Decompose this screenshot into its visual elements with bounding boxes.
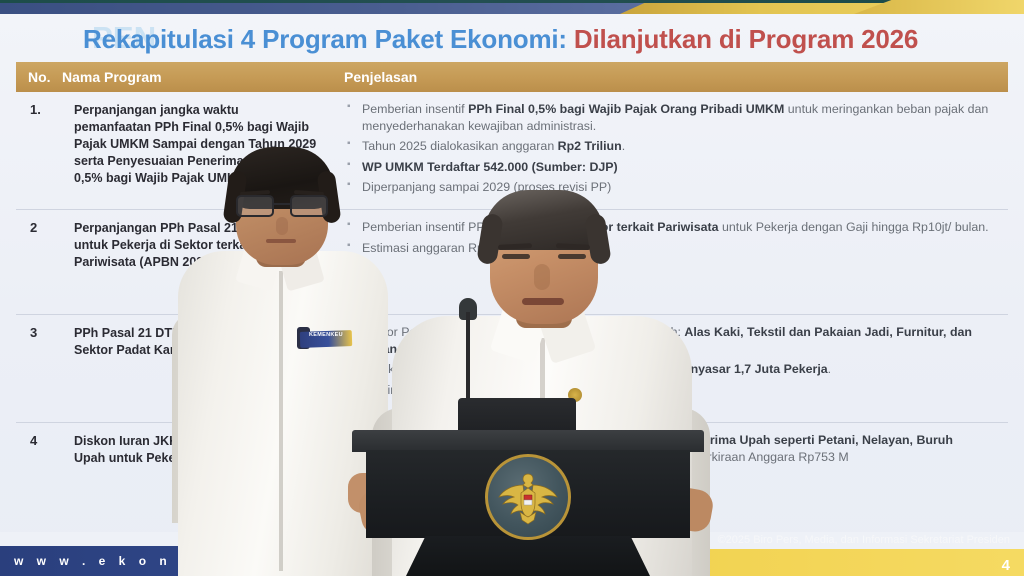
presentation-slide: PEN Rekapitulasi 4 Program Paket Ekonomi…	[0, 0, 1024, 576]
bullet-text: Tahun 2025 dialokasikan anggaran	[362, 139, 558, 153]
row-program: Perpanjangan jangka waktu pemanfaatan PP…	[62, 92, 332, 209]
bullet-text: Pemberian insentif PPh Pasal 21 DTP	[362, 220, 575, 234]
bullet-text: Diperpanjang sampai 2029 (proses revisi …	[362, 180, 611, 194]
slide-title-bar: PEN Rekapitulasi 4 Program Paket Ekonomi…	[0, 18, 1024, 60]
bullet-item: WP UMKM Terdaftar 542.000 (Sumber: DJP)	[346, 159, 998, 176]
bullet-text: untuk Pekerja dengan Gaji hingga Rp10jt/…	[719, 220, 989, 234]
bullet-text: .	[547, 383, 550, 397]
row-explanation: Sektor Padat Karya yang mendapatkan inse…	[332, 315, 1008, 422]
bullet-text: .	[828, 362, 831, 376]
bullet-text: (mulai Agustus 2025). Perkiraan Anggara …	[566, 450, 849, 464]
bullet-item: Estimasi anggaran Rp480 Miliar (setahun)	[346, 240, 998, 257]
bullet-item: Perkiraan Anggaran Rp600 Miliar.	[346, 382, 998, 399]
bullet-item: Pemberian insentif PPh Pasal 21 DTP Sekt…	[346, 219, 998, 236]
top-blue-strip	[0, 3, 660, 14]
column-header-no: No.	[16, 69, 62, 85]
footer-blue-band: w w w . e k o n . g o	[0, 546, 430, 576]
row-number: 2	[16, 210, 62, 314]
program-table: No. Nama Program Penjelasan 1. Perpanjan…	[16, 62, 1008, 503]
bullet-emphasis: PPh Final 0,5% bagi Wajib Pajak Orang Pr…	[468, 102, 784, 116]
footer-website-url: w w w . e k o n . g o	[0, 554, 230, 568]
bullet-text: Untuk Pekerja dengan Gaji hingga Rp10 Ju…	[362, 362, 673, 376]
row-program: Diskon Iuran JKK dan Bantuan Subsidi Upa…	[62, 423, 332, 503]
bullet-item: Pemberian insentif PPh Final 0,5% bagi W…	[346, 101, 998, 134]
bullet-emphasis: Sektor terkait Pariwisata	[575, 220, 719, 234]
broadcast-frame: PEN Rekapitulasi 4 Program Paket Ekonomi…	[0, 0, 1024, 576]
row-program: Perpanjangan PPh Pasal 21 DTP => untuk P…	[62, 210, 332, 314]
table-row: 3 PPh Pasal 21 DTP untuk Pekerja di Sekt…	[16, 315, 1008, 423]
bullet-text: (setahun)	[540, 241, 596, 255]
row-number: 3	[16, 315, 62, 422]
bullet-emphasis: 600 Miliar	[491, 383, 547, 397]
bullet-text: Perkiraan Anggaran Rp	[362, 383, 491, 397]
bullet-item: Sektor Padat Karya yang mendapatkan inse…	[346, 324, 998, 357]
bullet-list: Pemberian insentif PPh Pasal 21 DTP Sekt…	[346, 219, 998, 256]
table-row: 4 Diskon Iuran JKK dan Bantuan Subsidi U…	[16, 423, 1008, 503]
table-row: 2 Perpanjangan PPh Pasal 21 DTP => untuk…	[16, 210, 1008, 315]
bullet-text: Pemberian insentif	[362, 102, 468, 116]
row-explanation: Dilanjutkan di 2026 dan bisa diperluas k…	[332, 423, 1008, 503]
bullet-emphasis: Rp2 Triliun	[558, 139, 622, 153]
page-title-primary: Rekapitulasi 4 Program Paket Ekonomi:	[83, 24, 567, 54]
bullet-text: Sektor Padat Karya yang mendapatkan inse…	[362, 325, 684, 339]
page-title-accent: Dilanjutkan di Program 2026	[574, 24, 918, 54]
row-explanation: Pemberian insentif PPh Final 0,5% bagi W…	[332, 92, 1008, 209]
bullet-text: Dilanjutkan di 2026 dan bisa diperluas k…	[362, 433, 591, 447]
copyright-notice: ©2025 Biro Pers, Media, dan Informasi Se…	[718, 534, 1010, 546]
bullet-emphasis: WP UMKM Terdaftar 542.000 (Sumber: DJP)	[362, 160, 618, 174]
table-row: 1. Perpanjangan jangka waktu pemanfaatan…	[16, 92, 1008, 210]
bullet-list: Sektor Padat Karya yang mendapatkan inse…	[346, 324, 998, 398]
table-header-row: No. Nama Program Penjelasan	[16, 62, 1008, 92]
row-number: 1.	[16, 92, 62, 209]
column-header-explanation: Penjelasan	[332, 69, 1008, 85]
row-explanation: Pemberian insentif PPh Pasal 21 DTP Sekt…	[332, 210, 1008, 314]
bullet-text: Estimasi anggaran Rp	[362, 241, 484, 255]
bullet-list: Dilanjutkan di 2026 dan bisa diperluas k…	[346, 432, 998, 465]
bullet-emphasis: 480 Miliar	[484, 241, 540, 255]
bullet-text: .	[462, 342, 465, 356]
page-title: Rekapitulasi 4 Program Paket Ekonomi: Di…	[83, 24, 918, 55]
bullet-item: Untuk Pekerja dengan Gaji hingga Rp10 Ju…	[346, 361, 998, 378]
bullet-text: .	[622, 139, 625, 153]
bullet-item: Diperpanjang sampai 2029 (proses revisi …	[346, 179, 998, 196]
row-program: PPh Pasal 21 DTP untuk Pekerja di Sektor…	[62, 315, 332, 422]
bullet-item: Tahun 2025 dialokasikan anggaran Rp2 Tri…	[346, 138, 998, 155]
column-header-program: Nama Program	[62, 69, 332, 85]
bullet-item: Dilanjutkan di 2026 dan bisa diperluas k…	[346, 432, 998, 465]
slide-page-number: 4	[1002, 557, 1010, 574]
bullet-emphasis: menyasar 1,7 Juta Pekerja	[673, 362, 828, 376]
row-number: 4	[16, 423, 62, 503]
bullet-list: Pemberian insentif PPh Final 0,5% bagi W…	[346, 101, 998, 196]
